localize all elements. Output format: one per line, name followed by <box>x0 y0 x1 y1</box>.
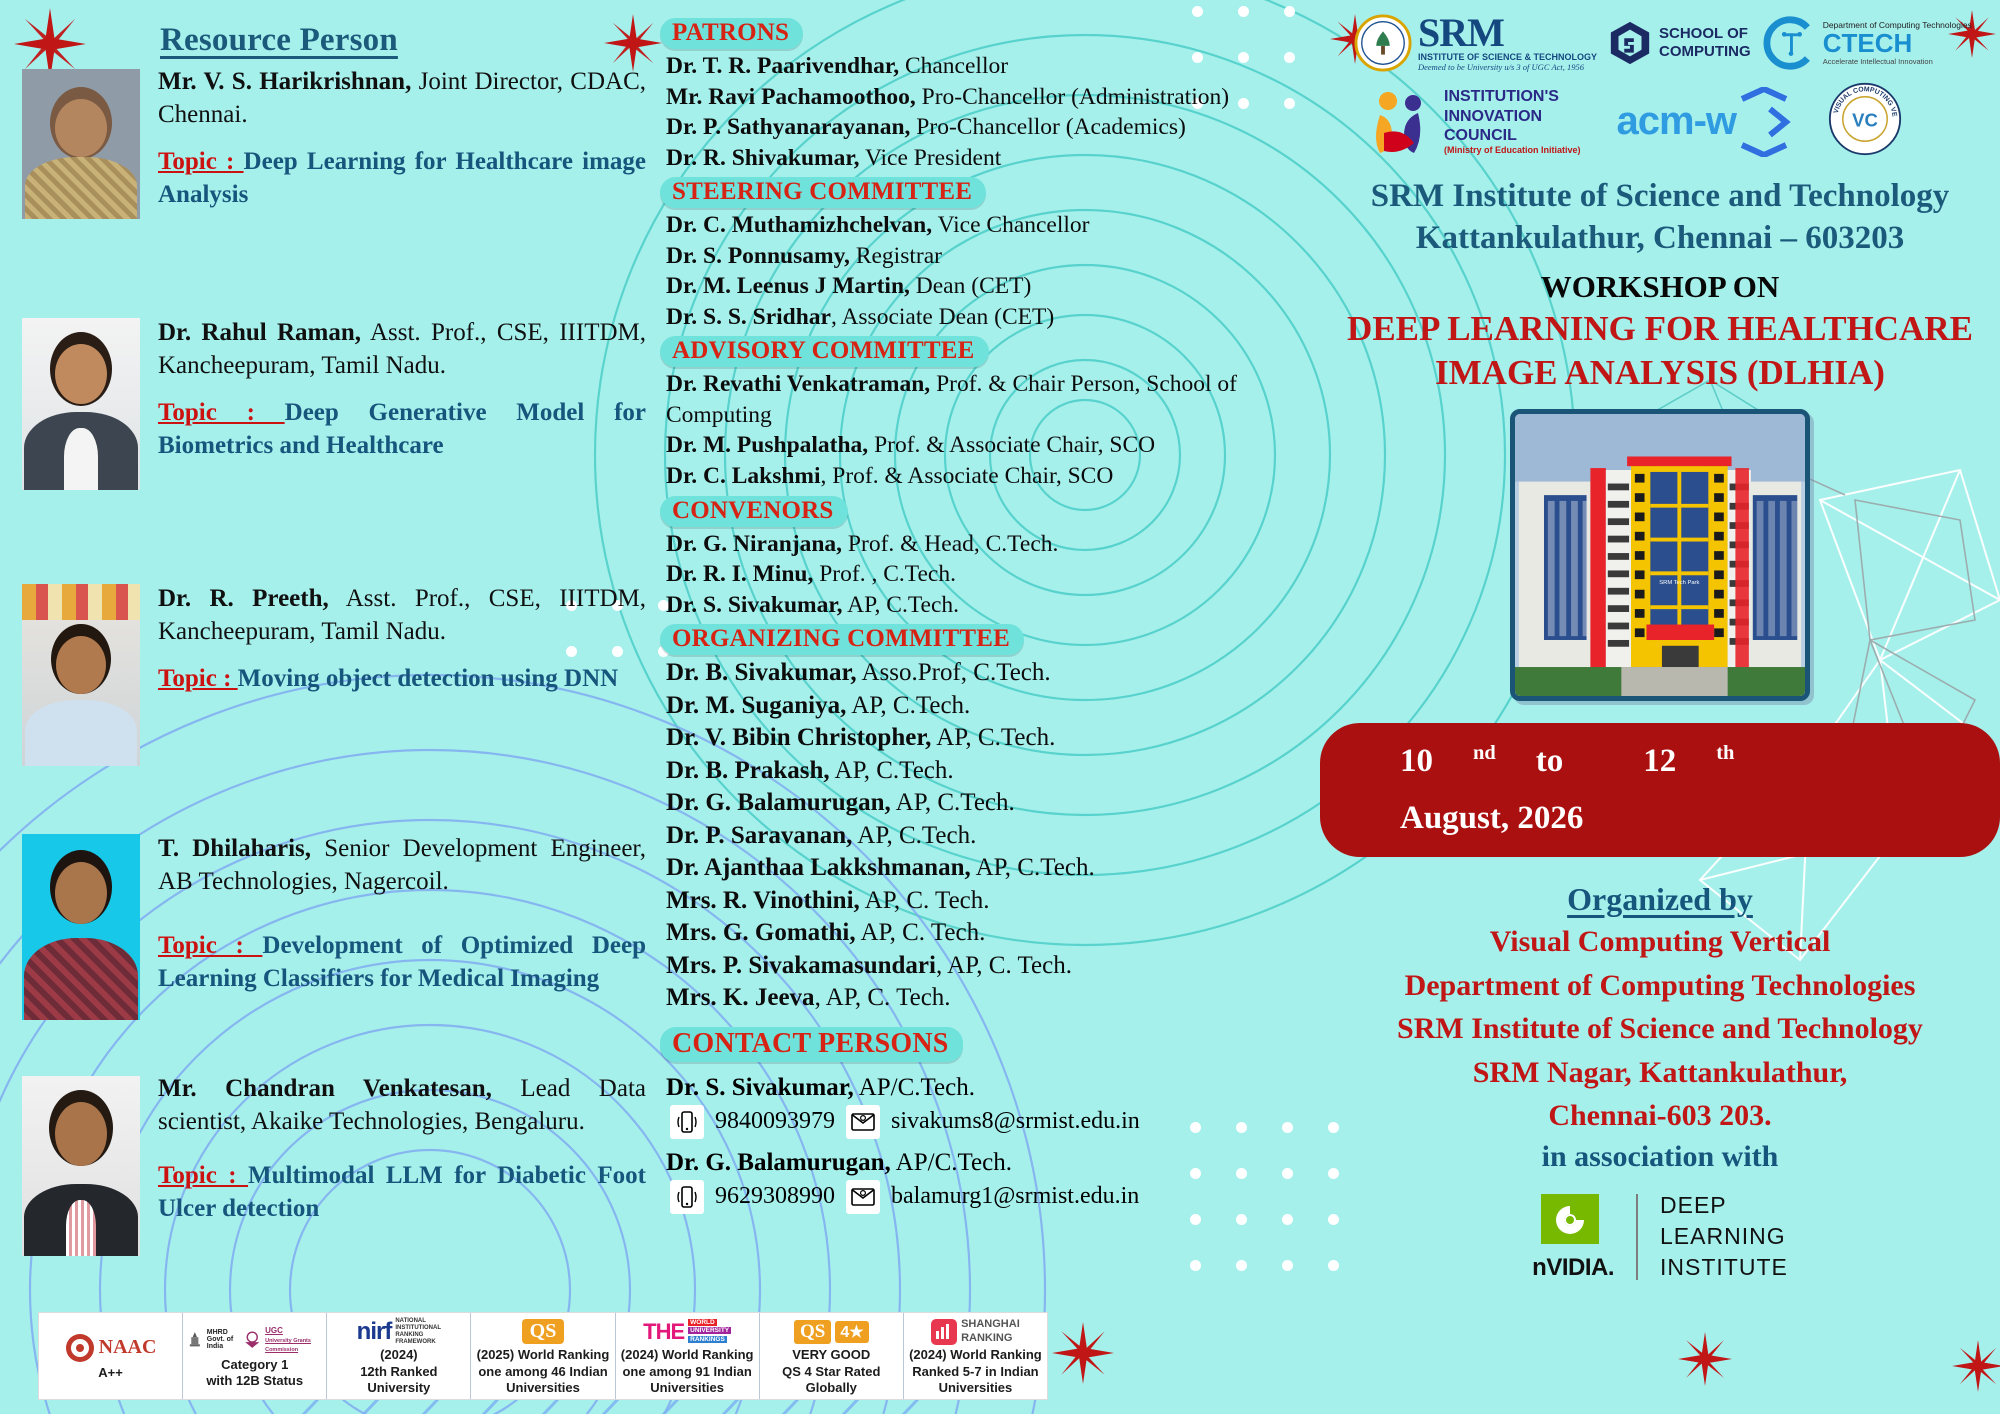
divider <box>1636 1194 1638 1280</box>
member-name: Dr. R. I. Minu, <box>666 561 813 587</box>
member-name: Dr. M. Pushpalatha, <box>666 432 868 458</box>
speaker-name-affiliation: Mr. Chandran Venkatesan, Lead Data scien… <box>158 1072 646 1139</box>
speaker-card: Mr. V. S. Harikrishnan, Joint Director, … <box>0 65 660 280</box>
srm-subtitle: INSTITUTE OF SCIENCE & TECHNOLOGY <box>1418 52 1597 62</box>
contact-name: Dr. S. Sivakumar, <box>666 1074 854 1101</box>
list-item: Dr. S. Sivakumar, AP, C.Tech. <box>660 590 1320 621</box>
topic-label: Topic : <box>158 148 244 175</box>
qs-star-detail: QS 4 Star Rated Globally <box>764 1364 899 1397</box>
resource-person-column: Resource Person Mr. V. S. Harikrishnan, … <box>0 0 660 1290</box>
list-item: Dr. Ajanthaa Lakkshmanan, AP, C.Tech. <box>660 852 1320 885</box>
speaker-topic: Topic : Development of Optimized Deep Le… <box>158 929 646 997</box>
member-name: Dr. T. R. Paarivendhar, <box>666 53 899 79</box>
naac-badge: NAAC A++ <box>39 1313 183 1399</box>
list-item: Dr. G. Balamurugan, AP, C.Tech. <box>660 787 1320 820</box>
nvidia-deep-learning-institute-logo: nVIDIA. DEEP LEARNING INSTITUTE <box>1320 1190 2000 1283</box>
acm-w-wordmark: acm-w <box>1617 99 1737 144</box>
list-item: Dr. R. I. Minu, Prof. , C.Tech. <box>660 559 1320 590</box>
speaker-photo-dhilaharis <box>22 834 140 1020</box>
speaker-card: Dr. Rahul Raman, Asst. Prof., CSE, IIITD… <box>0 316 660 546</box>
speaker-name-affiliation: Dr. Rahul Raman, Asst. Prof., CSE, IIITD… <box>158 316 646 383</box>
qs-star-label: VERY GOOD <box>792 1347 870 1363</box>
dli-line3: INSTITUTE <box>1660 1252 1788 1283</box>
naac-wordmark: NAAC <box>99 1336 157 1359</box>
qs-year: (2025) World Ranking <box>477 1347 610 1363</box>
topic-label: Topic : <box>158 399 285 426</box>
iic-people-icon <box>1366 87 1436 157</box>
workshop-title-line-2: IMAGE ANALYSIS (DLHIA) <box>1320 351 2000 395</box>
visual-computing-vertical-logo: VC VISUAL COMPUTING VERTICAL <box>1828 82 1902 161</box>
sparkle-icon-bottom-right <box>1678 1332 1732 1386</box>
list-item: Dr. C. Muthamizhchelvan, Vice Chancellor <box>660 210 1320 241</box>
institute-name: SRM Institute of Science and Technology … <box>1320 175 2000 259</box>
member-role: Vice President <box>860 145 1002 171</box>
list-item: Dr. B. Prakash, AP, C.Tech. <box>660 755 1320 788</box>
acm-w-logo: acm-w <box>1617 87 1793 157</box>
workshop-label: WORKSHOP ON <box>1320 269 2000 305</box>
contact-designation: AP/C.Tech. <box>891 1149 1012 1176</box>
iic-line1: INSTITUTION'S <box>1444 87 1581 106</box>
qs-wordmark: QS <box>522 1319 565 1344</box>
contact-designation: AP/C.Tech. <box>854 1074 975 1101</box>
speaker-card: Mr. Chandran Venkatesan, Lead Data scien… <box>0 1072 660 1282</box>
shanghai-ranking-badge: SHANGHAIRANKING (2024) World Ranking Ran… <box>904 1313 1047 1399</box>
page-title: Resource Person <box>160 22 660 59</box>
member-role: AP, C.Tech. <box>852 822 976 849</box>
member-name: Dr. S. Ponnusamy, <box>666 243 850 269</box>
member-list-patrons: Dr. T. R. Paarivendhar, Chancellor Mr. R… <box>660 51 1320 173</box>
committee-column: PATRONS Dr. T. R. Paarivendhar, Chancell… <box>660 14 1320 1294</box>
speaker-name: Mr. Chandran Venkatesan, <box>158 1075 492 1102</box>
topic-label: Topic : <box>158 665 238 692</box>
member-name: Mrs. G. Gomathi, <box>666 919 856 946</box>
member-name: Dr. R. Shivakumar, <box>666 145 860 171</box>
shanghai-rank: Ranked 5-7 in Indian Universities <box>908 1364 1043 1397</box>
list-item: Dr. B. Sivakumar, Asso.Prof, C.Tech. <box>660 657 1320 690</box>
member-name: Dr. M. Suganiya, <box>666 692 846 719</box>
member-role: , AP, C. Tech. <box>936 952 1072 979</box>
phone-icon <box>670 1105 704 1139</box>
member-name: Mrs. P. Sivakamasundari <box>666 952 936 979</box>
date-joiner: to <box>1496 733 1604 790</box>
institute-line-1: SRM Institute of Science and Technology <box>1320 175 2000 217</box>
member-role: Registrar <box>850 243 942 269</box>
speaker-name-affiliation: Dr. R. Preeth, Asst. Prof., CSE, IIITDM,… <box>158 582 646 649</box>
organizer-line: Chennai-603 203. <box>1320 1096 2000 1136</box>
svg-text:VC: VC <box>1852 109 1878 130</box>
nirf-rank: 12th Ranked University <box>331 1364 466 1397</box>
campus-building-photo: SRM Tech Park <box>1320 409 2000 701</box>
cube-icon <box>1607 19 1653 67</box>
partner-logos-row-1: SRM INSTITUTE OF SCIENCE & TECHNOLOGY De… <box>1320 0 2000 72</box>
member-name: Dr. P. Sathyanarayanan, <box>666 114 910 140</box>
member-name: Mrs. R. Vinothini, <box>666 887 860 914</box>
dli-line2: LEARNING <box>1660 1221 1788 1252</box>
ctech-wordmark: CTECH <box>1823 30 1972 57</box>
nvidia-wordmark: nVIDIA. <box>1532 1254 1614 1282</box>
member-role: Dean (CET) <box>910 273 1031 299</box>
association-label: in association with <box>1320 1140 2000 1174</box>
speaker-photo-harikrishnan <box>22 69 140 219</box>
member-name: Dr. P. Saravanan, <box>666 822 852 849</box>
list-item: Mrs. G. Gomathi, AP, C. Tech. <box>660 917 1320 950</box>
speaker-name: Dr. Rahul Raman, <box>158 319 361 346</box>
member-role: AP, C.Tech. <box>830 757 954 784</box>
member-role: Vice Chancellor <box>932 212 1089 238</box>
organizer-line: Visual Computing Vertical <box>1320 922 2000 962</box>
iic-ministry-note: (Ministry of Education Initiative) <box>1444 145 1581 156</box>
section-title-convenors: CONVENORS <box>660 496 848 527</box>
date-start-suffix: nd <box>1473 742 1496 764</box>
member-role: , Associate Dean (CET) <box>831 304 1054 330</box>
workshop-title: DEEP LEARNING FOR HEALTHCARE IMAGE ANALY… <box>1320 307 2000 395</box>
speaker-topic: Topic : Moving object detection using DN… <box>158 662 646 696</box>
list-item: Mrs. K. Jeeva, AP, C. Tech. <box>660 982 1320 1015</box>
school-of-computing-line1: SCHOOL OF <box>1659 25 1751 43</box>
ugc-emblem-icon <box>243 1327 262 1353</box>
date-end-suffix: th <box>1716 742 1734 764</box>
member-name: Dr. C. Lakshmi <box>666 463 821 489</box>
topic-text: Moving object detection using DNN <box>238 665 619 692</box>
list-item: Mr. Ravi Pachamoothoo, Pro-Chancellor (A… <box>660 82 1320 113</box>
qs-world-ranking-badge: QS (2025) World Ranking one among 46 Ind… <box>471 1313 615 1399</box>
phone-icon <box>670 1180 704 1214</box>
qs-rank: one among 46 Indian Universities <box>475 1364 610 1397</box>
email-icon <box>846 1180 880 1214</box>
institute-line-2: Kattankulathur, Chennai – 603203 <box>1320 217 2000 259</box>
vcv-seal-icon: VC VISUAL COMPUTING VERTICAL <box>1828 82 1902 156</box>
member-name: Dr. V. Bibin Christopher, <box>666 724 931 751</box>
nirf-badge: nirf NATIONALINSTITUTIONALRANKINGFRAMEWO… <box>327 1313 471 1399</box>
list-item: Dr. R. Shivakumar, Vice President <box>660 143 1320 174</box>
member-role: AP, C.Tech. <box>931 724 1055 751</box>
mhrd-emblem-icon <box>187 1327 203 1353</box>
list-item: Dr. Revathi Venkatraman, Prof. & Chair P… <box>660 369 1320 430</box>
contact-person-entry: Dr. S. Sivakumar, AP/C.Tech. 9840093979 … <box>660 1074 1320 1139</box>
srm-wordmark: SRM <box>1418 14 1597 52</box>
section-title-organizing-committee: ORGANIZING COMMITTEE <box>660 624 1024 655</box>
member-role: AP, C.Tech. <box>891 789 1015 816</box>
member-role: AP, C.Tech. <box>971 854 1095 881</box>
speaker-photo-rahul-raman <box>22 318 140 490</box>
member-name: Dr. Ajanthaa Lakkshmanan, <box>666 854 971 881</box>
event-details-column: SRM INSTITUTE OF SCIENCE & TECHNOLOGY De… <box>1320 0 2000 1290</box>
member-name: Dr. G. Balamurugan, <box>666 789 891 816</box>
srm-logo: SRM INSTITUTE OF SCIENCE & TECHNOLOGY De… <box>1354 14 1597 72</box>
ugc-mhrd-badge: MHRDGovt. of India UGCUniversity Grants … <box>183 1313 327 1399</box>
member-role: Prof. , C.Tech. <box>813 561 956 587</box>
ugc-status: with 12B Status <box>206 1373 303 1389</box>
organizer-list: Visual Computing Vertical Department of … <box>1320 922 2000 1136</box>
contact-person-entry: Dr. G. Balamurugan, AP/C.Tech. 962930899… <box>660 1149 1320 1214</box>
speaker-card: T. Dhilaharis, Senior Development Engine… <box>0 832 660 1054</box>
member-name: Dr. S. Sivakumar, <box>666 592 843 618</box>
speaker-topic: Topic : Multimodal LLM for Diabetic Foot… <box>158 1159 646 1227</box>
member-name: Dr. B. Prakash, <box>666 757 830 784</box>
workshop-title-line-1: DEEP LEARNING FOR HEALTHCARE <box>1320 307 2000 351</box>
speaker-photo-preeth <box>22 584 140 766</box>
contact-name: Dr. G. Balamurugan, <box>666 1149 891 1176</box>
list-item: Dr. G. Niranjana, Prof. & Head, C.Tech. <box>660 529 1320 560</box>
building-illustration: SRM Tech Park <box>1515 414 1805 696</box>
contact-email[interactable]: sivakums8@srmist.edu.in <box>891 1108 1140 1135</box>
member-role: Pro-Chancellor (Academics) <box>910 114 1185 140</box>
ctech-tagline: Accelerate Intellectual Innovation <box>1823 57 1972 66</box>
ctech-logo: Department of Computing Technologies CTE… <box>1761 14 1972 72</box>
member-name: Dr. S. S. Sridhar <box>666 304 831 330</box>
speaker-name: T. Dhilaharis, <box>158 835 311 862</box>
nirf-year: (2024) <box>380 1347 418 1363</box>
iic-line2: INNOVATION <box>1444 107 1581 126</box>
acm-w-diamond-icon <box>1736 87 1792 157</box>
speaker-topic: Topic : Deep Generative Model for Biomet… <box>158 396 646 464</box>
organizer-line: Department of Computing Technologies <box>1320 966 2000 1006</box>
member-list-convenors: Dr. G. Niranjana, Prof. & Head, C.Tech. … <box>660 529 1320 621</box>
contact-email[interactable]: balamurg1@srmist.edu.in <box>891 1183 1139 1210</box>
school-of-computing-line2: COMPUTING <box>1659 43 1751 61</box>
member-role: , Prof. & Associate Chair, SCO <box>821 463 1114 489</box>
member-role: AP, C.Tech. <box>843 592 960 618</box>
shanghai-year: (2024) World Ranking <box>909 1347 1042 1363</box>
naac-seal-icon <box>65 1333 95 1363</box>
dli-line1: DEEP <box>1660 1190 1788 1221</box>
organized-by-label: Organized by <box>1320 881 2000 918</box>
srm-deemed-note: Deemed to be University u/s 3 of UGC Act… <box>1418 62 1597 72</box>
member-role: , AP, C. Tech. <box>815 984 951 1011</box>
list-item: Dr. S. S. Sridhar, Associate Dean (CET) <box>660 302 1320 333</box>
section-title-patrons: PATRONS <box>660 18 803 49</box>
iic-line3: COUNCIL <box>1444 126 1581 145</box>
section-title-steering-committee: STEERING COMMITTEE <box>660 177 986 208</box>
list-item: Dr. M. Leenus J Martin, Dean (CET) <box>660 271 1320 302</box>
member-name: Dr. Revathi Venkatraman, <box>666 371 930 397</box>
organizer-line: SRM Nagar, Kattankulathur, <box>1320 1053 2000 1093</box>
ugc-category: Category 1 <box>221 1357 288 1373</box>
speaker-photo-chandran-venkatesan <box>22 1076 140 1256</box>
partner-logos-row-2: INSTITUTION'S INNOVATION COUNCIL (Minist… <box>1320 72 2000 161</box>
member-role: Chancellor <box>899 53 1008 79</box>
nvidia-eye-icon <box>1533 1192 1613 1258</box>
member-name: Dr. C. Muthamizhchelvan, <box>666 212 932 238</box>
the-rank: one among 91 Indian Universities <box>620 1364 755 1397</box>
speaker-topic: Topic : Deep Learning for Healthcare ima… <box>158 145 646 213</box>
section-title-contact-persons: CONTACT PERSONS <box>660 1027 963 1062</box>
sparkle-icon-far-bottom-right <box>1952 1340 2000 1392</box>
list-item: Dr. C. Lakshmi, Prof. & Associate Chair,… <box>660 461 1320 492</box>
list-item: Dr. P. Sathyanarayanan, Pro-Chancellor (… <box>660 112 1320 143</box>
list-item: Dr. M. Pushpalatha, Prof. & Associate Ch… <box>660 430 1320 461</box>
workshop-poster: Resource Person Mr. V. S. Harikrishnan, … <box>0 0 2000 1414</box>
ctech-c-icon <box>1761 14 1819 72</box>
topic-label: Topic : <box>158 1162 248 1189</box>
organizer-line: SRM Institute of Science and Technology <box>1320 1009 2000 1049</box>
nirf-wordmark: nirf <box>357 1318 392 1346</box>
list-item: Dr. V. Bibin Christopher, AP, C.Tech. <box>660 722 1320 755</box>
shanghai-ranking-icon <box>931 1319 957 1345</box>
naac-grade: A++ <box>98 1365 123 1381</box>
speaker-name-affiliation: T. Dhilaharis, Senior Development Engine… <box>158 832 646 899</box>
list-item: Dr. T. R. Paarivendhar, Chancellor <box>660 51 1320 82</box>
event-date-badge: 10nd to 12th August, 2026 <box>1320 723 2000 857</box>
member-list-organizing-committee: Dr. B. Sivakumar, Asso.Prof, C.Tech. Dr.… <box>660 657 1320 1015</box>
member-role: Asso.Prof, C.Tech. <box>857 659 1051 686</box>
topic-label: Topic : <box>158 932 262 959</box>
speaker-name: Dr. R. Preeth, <box>158 585 329 612</box>
institutions-innovation-council-logo: INSTITUTION'S INNOVATION COUNCIL (Minist… <box>1366 87 1581 157</box>
member-name: Dr. M. Leenus J Martin, <box>666 273 910 299</box>
member-list-steering-committee: Dr. C. Muthamizhchelvan, Vice Chancellor… <box>660 210 1320 332</box>
the-world-university-rankings-badge: THE WORLD UNIVERSITY RANKINGS (2024) Wor… <box>616 1313 760 1399</box>
member-name: Dr. B. Sivakumar, <box>666 659 857 686</box>
contact-phone[interactable]: 9840093979 <box>715 1108 835 1135</box>
member-role: Pro-Chancellor (Administration) <box>916 84 1229 110</box>
email-icon <box>846 1105 880 1139</box>
speaker-name: Mr. V. S. Harikrishnan, <box>158 68 411 95</box>
qs-4-star-badge: QS 4★ VERY GOOD QS 4 Star Rated Globally <box>760 1313 904 1399</box>
srm-seal-icon <box>1354 14 1412 72</box>
building-caption: SRM Tech Park <box>1659 580 1699 586</box>
contact-phone[interactable]: 9629308990 <box>715 1183 835 1210</box>
school-of-computing-logo: SCHOOL OF COMPUTING <box>1607 19 1751 67</box>
member-name: Mrs. K. Jeeva <box>666 984 815 1011</box>
speaker-name-affiliation: Mr. V. S. Harikrishnan, Joint Director, … <box>158 65 646 132</box>
list-item: Dr. M. Suganiya, AP, C.Tech. <box>660 690 1320 723</box>
member-role: AP, C. Tech. <box>860 887 990 914</box>
list-item: Dr. S. Ponnusamy, Registrar <box>660 241 1320 272</box>
the-wordmark: THE <box>643 1319 684 1345</box>
member-role: Prof. & Head, C.Tech. <box>842 531 1058 557</box>
the-year: (2024) World Ranking <box>621 1347 754 1363</box>
sparkle-icon-bottom-left <box>1052 1322 1114 1384</box>
list-item: Mrs. P. Sivakamasundari, AP, C. Tech. <box>660 950 1320 983</box>
speaker-card: Dr. R. Preeth, Asst. Prof., CSE, IIITDM,… <box>0 582 660 812</box>
date-month-year: August, 2026 <box>1360 790 1623 847</box>
date-end-day: 12 <box>1603 733 1716 790</box>
list-item: Mrs. R. Vinothini, AP, C. Tech. <box>660 885 1320 918</box>
date-start-day: 10 <box>1360 733 1473 790</box>
member-role: AP, C.Tech. <box>846 692 970 719</box>
section-title-advisory-committee: ADVISORY COMMITTEE <box>660 336 989 367</box>
member-role: AP, C. Tech. <box>856 919 986 946</box>
member-role: Prof. & Associate Chair, SCO <box>868 432 1155 458</box>
list-item: Dr. P. Saravanan, AP, C.Tech. <box>660 820 1320 853</box>
member-name: Dr. G. Niranjana, <box>666 531 842 557</box>
accreditation-ranking-strip: NAAC A++ MHRDGovt. of India UGCUniversit… <box>38 1312 1048 1400</box>
member-list-advisory-committee: Dr. Revathi Venkatraman, Prof. & Chair P… <box>660 369 1320 491</box>
member-name: Mr. Ravi Pachamoothoo, <box>666 84 916 110</box>
